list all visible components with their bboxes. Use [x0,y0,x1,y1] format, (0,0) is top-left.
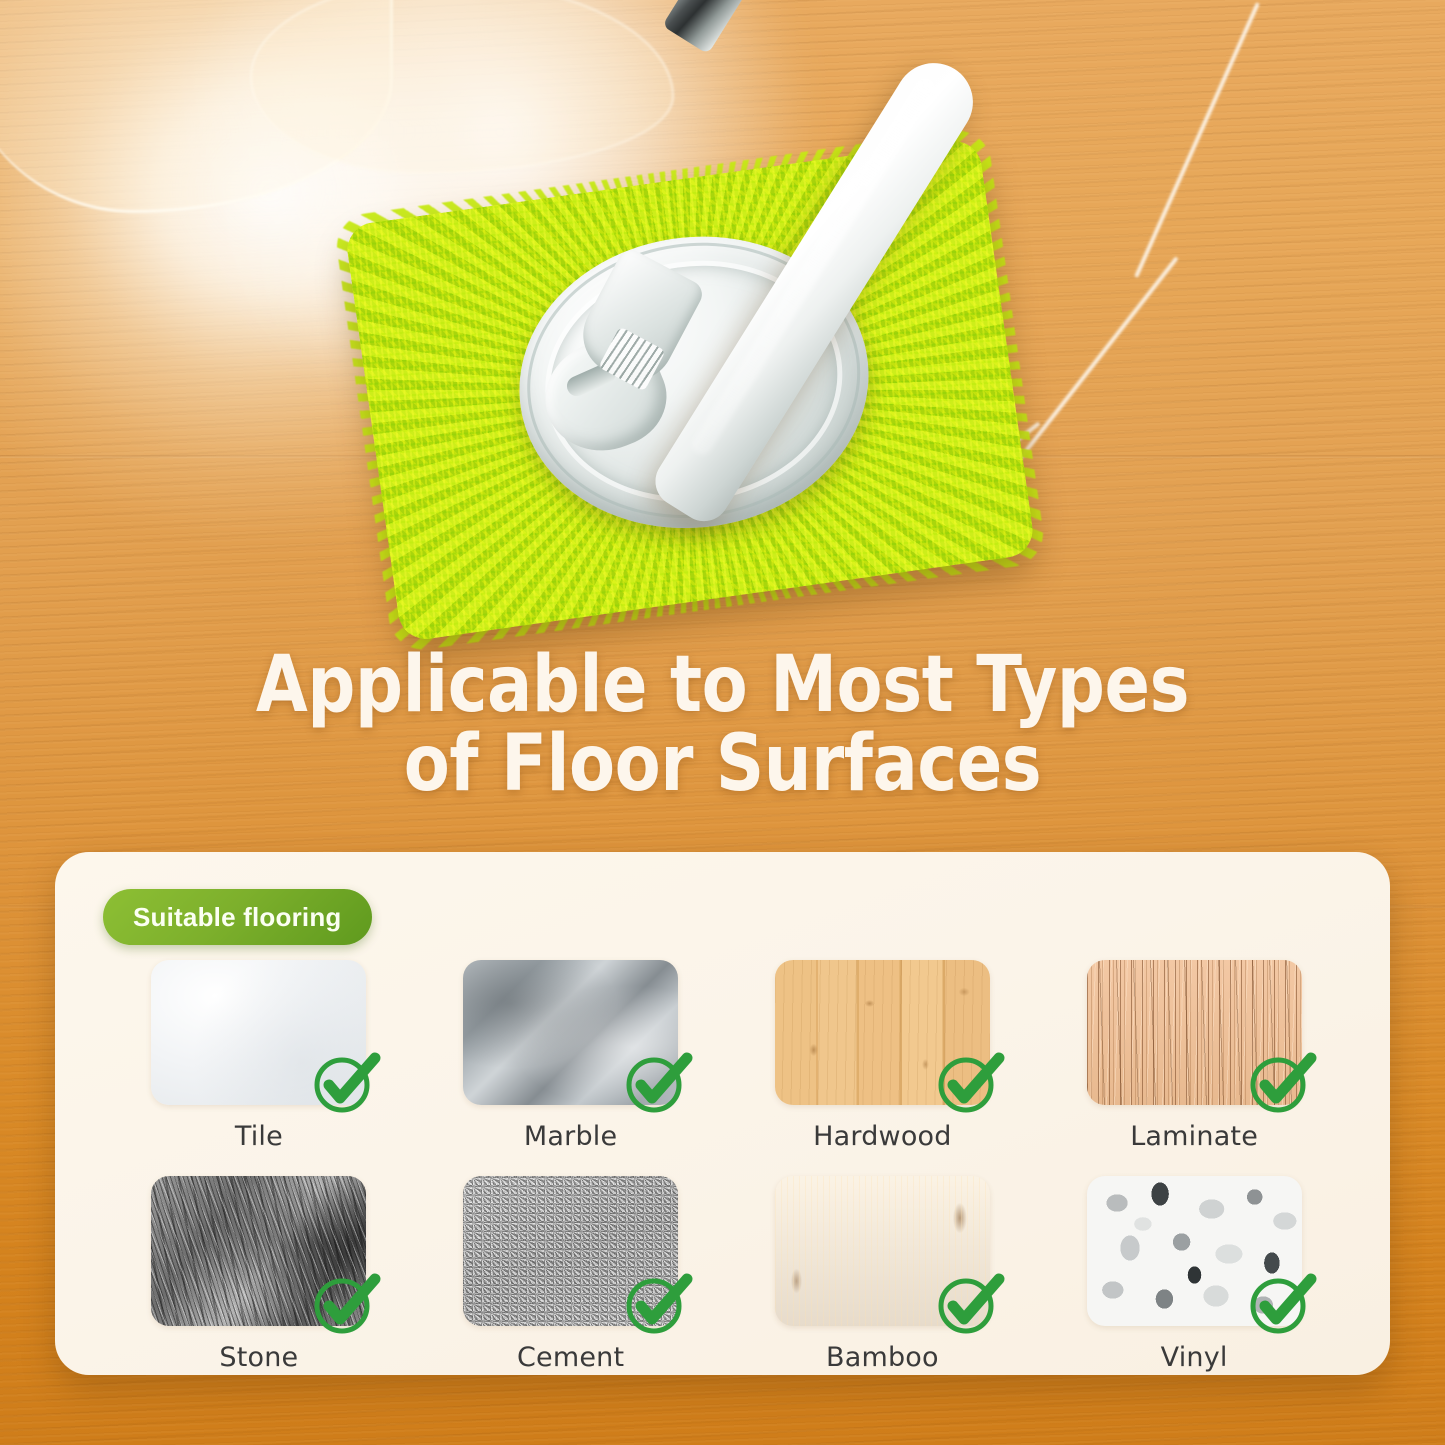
suitable-flooring-card: Suitable flooring Tile [55,852,1390,1375]
flooring-item-tile[interactable]: Tile [103,960,415,1152]
swatch-wrap [1087,1176,1302,1326]
swatch-wrap [775,960,990,1105]
flooring-item-hardwood[interactable]: Hardwood [727,960,1039,1152]
suitable-flooring-badge: Suitable flooring [103,889,372,945]
flooring-label: Stone [103,1342,415,1373]
flooring-row: Stone Cement [103,1176,1350,1373]
flooring-item-marble[interactable]: Marble [415,960,727,1152]
check-circle-icon [1244,1045,1318,1119]
check-circle-icon [620,1045,694,1119]
product-feature-image: Applicable to Most Types of Floor Surfac… [0,0,1445,1445]
flooring-label: Tile [103,1121,415,1152]
swatch-wrap [463,1176,678,1326]
flooring-item-cement[interactable]: Cement [415,1176,727,1373]
swatch-wrap [775,1176,990,1326]
flooring-label: Marble [415,1121,727,1152]
check-circle-icon [620,1266,694,1340]
mop-product [340,140,1060,660]
swatch-wrap [151,960,366,1105]
flooring-item-vinyl[interactable]: Vinyl [1038,1176,1350,1373]
flooring-item-laminate[interactable]: Laminate [1038,960,1350,1152]
check-circle-icon [1244,1266,1318,1340]
flooring-label: Laminate [1038,1121,1350,1152]
flooring-grid: Tile Marble [103,960,1350,1373]
badge-label: Suitable flooring [133,902,342,933]
check-circle-icon [308,1266,382,1340]
swatch-wrap [1087,960,1302,1105]
flooring-label: Bamboo [727,1342,1039,1373]
check-circle-icon [308,1045,382,1119]
mop-pad [344,138,1036,643]
flooring-label: Cement [415,1342,727,1373]
check-circle-icon [932,1266,1006,1340]
flooring-item-bamboo[interactable]: Bamboo [727,1176,1039,1373]
check-circle-icon [932,1045,1006,1119]
headline: Applicable to Most Types of Floor Surfac… [101,646,1344,804]
swatch-wrap [463,960,678,1105]
headline-line-1: Applicable to Most Types [256,640,1189,730]
swatch-wrap [151,1176,366,1326]
flooring-label: Vinyl [1038,1342,1350,1373]
flooring-row: Tile Marble [103,960,1350,1152]
flooring-item-stone[interactable]: Stone [103,1176,415,1373]
headline-line-2: of Floor Surfaces [101,725,1344,804]
flooring-label: Hardwood [727,1121,1039,1152]
